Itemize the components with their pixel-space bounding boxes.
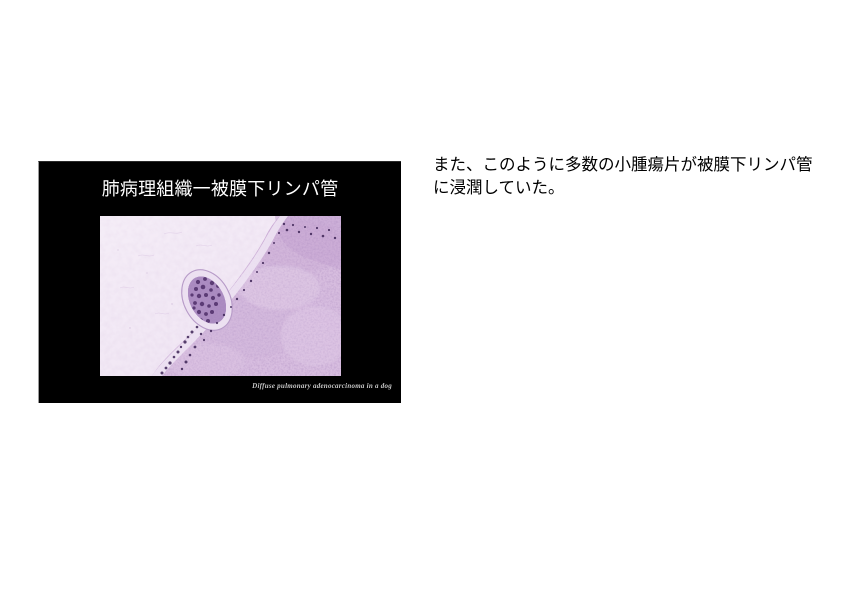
slide-title: 肺病理組織一被膜下リンパ管 bbox=[39, 179, 401, 201]
page-canvas: 肺病理組織一被膜下リンパ管 bbox=[0, 0, 842, 595]
slide-figure: 肺病理組織一被膜下リンパ管 bbox=[38, 161, 401, 403]
body-paragraph: また、このように多数の小腫瘍片が被膜下リンパ管に浸潤していた。 bbox=[433, 153, 817, 199]
micrograph-frame bbox=[100, 216, 341, 376]
lung-histopathology-micrograph bbox=[100, 216, 341, 376]
slide-caption: Diffuse pulmonary adenocarcinoma in a do… bbox=[39, 382, 392, 391]
